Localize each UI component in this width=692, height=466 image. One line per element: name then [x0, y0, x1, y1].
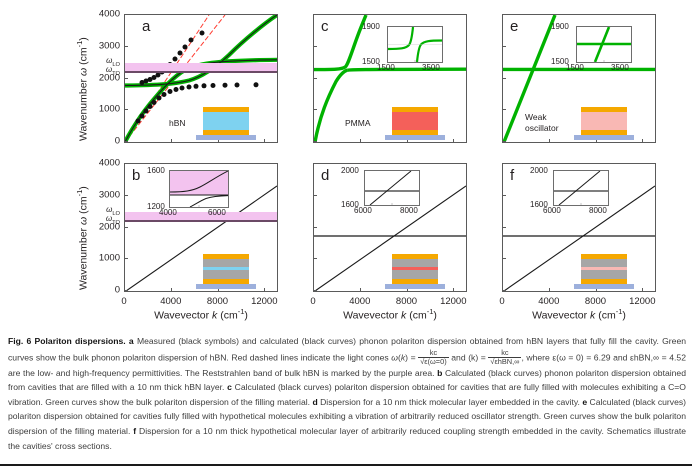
inset-e-ymax: 1900: [551, 22, 569, 31]
schematic-weak-thin-layer: [581, 267, 627, 270]
xtick-label-12000: 12000: [251, 296, 277, 307]
xtick-label-8000: 8000: [207, 296, 228, 307]
schematic-substrate: [574, 284, 634, 289]
caption-and: and: [611, 352, 631, 362]
omega-to-label-b: ωTO: [106, 214, 120, 226]
xtick-mark: [313, 139, 314, 143]
panel-letter-c: c: [321, 18, 329, 35]
caption-omega-eq: ω(k) =: [391, 352, 418, 362]
cavity-schematic-e: [581, 107, 627, 140]
xtick-mark: [360, 139, 361, 143]
schematic-spacer-lower: [581, 270, 627, 279]
figure-container: hBN a 4000 3000 2000 1000 0 ωLO ωTO Wave…: [0, 0, 692, 466]
schematic-substrate: [385, 135, 445, 140]
ytick-label-1000: 1000: [99, 104, 120, 115]
caption-where: where: [526, 352, 552, 362]
ytick-mark: [313, 195, 317, 196]
caption-permittivities: are the low- and high-frequency permitti…: [8, 368, 435, 378]
schematic-bottom-mirror: [581, 279, 627, 284]
inset-d-ymax: 2000: [341, 166, 359, 175]
xtick-mark: [313, 288, 314, 292]
inset-b-ymax: 1600: [147, 166, 165, 175]
panel-letter-a: a: [142, 18, 150, 35]
schematic-top-mirror: [203, 107, 249, 112]
xtick-label-8000: 8000: [585, 296, 606, 307]
xtick-mark: [502, 139, 503, 143]
light-cone-fraction-2: kc√εhBN,∞: [488, 349, 521, 366]
panel-letter-b: b: [132, 167, 140, 184]
ytick-mark: [313, 258, 317, 259]
schematic-molecular-thin-layer: [392, 267, 438, 270]
cavity-schematic-c: [392, 107, 438, 140]
inset-e-xmax: 3500: [611, 63, 629, 72]
inset-d-plot: [365, 171, 419, 205]
caption-ref-a: a: [129, 336, 134, 346]
inset-e-xmin: 1500: [566, 63, 584, 72]
figure-caption: Fig. 6 Polariton dispersions. a Measured…: [8, 334, 686, 453]
xtick-mark: [453, 139, 454, 143]
schematic-substrate: [196, 284, 256, 289]
x-axis-label-f: Wavevector k (cm-1): [497, 307, 661, 322]
xtick-label-12000: 12000: [629, 296, 655, 307]
inset-c-ymax: 1900: [362, 22, 380, 31]
ytick-label-3000: 3000: [99, 40, 120, 51]
xtick-label-0: 0: [499, 296, 504, 307]
schematic-top-mirror: [581, 254, 627, 259]
panel-f-axes: 2000 1600 6000 8000: [502, 163, 656, 292]
xtick-label-0: 0: [121, 296, 126, 307]
caption-fig-id: Fig. 6: [8, 336, 31, 346]
x-axis-label-b: Wavevector k (cm-1): [119, 307, 283, 322]
xtick-label-0: 0: [310, 296, 315, 307]
caption-ref-e: e: [582, 397, 587, 407]
xtick-mark: [549, 139, 550, 143]
caption-eps-inf: εhBN,∞ = 4.52: [630, 352, 686, 362]
schematic-hbn-thin-layer: [203, 267, 249, 270]
ytick-mark: [502, 14, 506, 15]
ytick-mark: [502, 227, 506, 228]
x-axis-label-d: Wavevector k (cm-1): [308, 307, 472, 322]
panel-letter-f: f: [510, 167, 514, 184]
panel-c: 1900 1500 1500 3500 PMMA c: [313, 14, 467, 143]
y-axis-label-top: Wavenumber ω (cm-1): [75, 37, 90, 141]
schematic-bottom-mirror: [392, 279, 438, 284]
ytick-mark: [124, 195, 128, 196]
caption-ref-f: f: [133, 426, 136, 436]
ytick-mark: [124, 258, 128, 259]
ytick-mark: [124, 78, 128, 79]
xtick-label-12000: 12000: [440, 296, 466, 307]
ytick-mark: [502, 195, 506, 196]
ytick-mark: [502, 109, 506, 110]
xtick-label-4000: 4000: [160, 296, 181, 307]
reststrahlen-band-a: [125, 63, 277, 71]
ytick-mark: [313, 46, 317, 47]
xtick-label-4000: 4000: [349, 296, 370, 307]
schematic-pmma-layer: [392, 112, 438, 130]
xtick-mark: [549, 288, 550, 292]
panel-e-axes: 1900 1500 1500 3500 Weak oscillator: [502, 14, 656, 143]
schematic-spacer-lower: [203, 270, 249, 279]
panel-c-axes: 1900 1500 1500 3500 PMMA: [313, 14, 467, 143]
ytick-mark: [124, 163, 128, 164]
inset-c: [387, 26, 443, 63]
schematic-hbn-layer: [203, 112, 249, 130]
light-cone-fraction-1: kc√ε(ω=0): [418, 349, 448, 366]
schematic-substrate: [574, 135, 634, 140]
xtick-label-4000: 4000: [538, 296, 559, 307]
panel-d-axes: 2000 1600 6000 8000: [313, 163, 467, 292]
schematic-top-mirror: [581, 107, 627, 112]
ytick-mark: [124, 227, 128, 228]
inset-c-xmax: 3500: [422, 63, 440, 72]
xtick-mark: [360, 288, 361, 292]
inset-b-xmin: 4000: [159, 208, 177, 217]
ytick-label-0: 0: [115, 285, 120, 296]
y-axis-label-bottom: Wavenumber ω (cm-1): [75, 186, 90, 290]
inset-f-xmax: 8000: [589, 206, 607, 215]
inset-e-plot: [577, 27, 631, 62]
reststrahlen-band-b: [125, 212, 277, 220]
schematic-label-e: Weak oscillator: [525, 112, 559, 134]
ytick-mark: [313, 109, 317, 110]
caption-eps-zero: ε(ω = 0) = 6.29: [552, 352, 610, 362]
schematic-top-mirror: [203, 254, 249, 259]
ytick-mark: [124, 109, 128, 110]
inset-d-xmax: 8000: [400, 206, 418, 215]
inset-f: [553, 170, 609, 206]
schematic-bottom-mirror: [203, 279, 249, 284]
xtick-label-8000: 8000: [396, 296, 417, 307]
cavity-schematic-f: [581, 254, 627, 289]
inset-f-plot: [554, 171, 608, 205]
panel-f: 2000 1600 6000 8000 f 0 4000 8000 12000: [502, 163, 656, 292]
ytick-mark: [313, 227, 317, 228]
panel-letter-e: e: [510, 18, 518, 35]
ytick-mark: [313, 78, 317, 79]
schematic-label-c: PMMA: [345, 118, 371, 129]
ytick-mark: [124, 46, 128, 47]
xtick-mark: [502, 288, 503, 292]
xtick-mark: [642, 139, 643, 143]
inset-d-xmin: 6000: [354, 206, 372, 215]
caption-f-text: Dispersion for a 10 nm thick hypothetica…: [139, 426, 604, 436]
band-lower-edge-b: [125, 220, 277, 222]
caption-ref-b: b: [437, 368, 442, 378]
caption-ref-d: d: [312, 397, 317, 407]
ytick-mark: [502, 163, 506, 164]
ytick-label-4000: 4000: [99, 158, 120, 169]
ytick-label-4000: 4000: [99, 9, 120, 20]
schematic-bottom-mirror: [392, 130, 438, 135]
ytick-mark: [124, 14, 128, 15]
inset-b: [169, 170, 229, 208]
schematic-spacer-upper: [392, 259, 438, 267]
ytick-label-3000: 3000: [99, 189, 120, 200]
xtick-mark: [171, 139, 172, 143]
ytick-mark: [313, 14, 317, 15]
panel-b-axes: 1600 1200 4000 6000: [124, 163, 278, 292]
caption-title: Polariton dispersions.: [35, 336, 126, 346]
inset-b-xmax: 6000: [208, 208, 226, 217]
schematic-spacer-upper: [581, 259, 627, 267]
xtick-mark: [124, 139, 125, 143]
caption-d-text: Dispersion for a 10 nm thick molecular l…: [320, 397, 580, 407]
band-lower-edge-a: [125, 71, 277, 73]
ytick-mark: [502, 258, 506, 259]
caption-ref-c: c: [227, 382, 232, 392]
inset-f-ymax: 2000: [530, 166, 548, 175]
panel-letter-d: d: [321, 167, 329, 184]
panel-e: 1900 1500 1500 3500 Weak oscillator e: [502, 14, 656, 143]
inset-c-xmin: 1500: [377, 63, 395, 72]
omega-to-label-a: ωTO: [106, 65, 120, 77]
xtick-mark: [264, 139, 265, 143]
xtick-mark: [171, 288, 172, 292]
schematic-spacer-upper: [203, 259, 249, 267]
xtick-mark: [124, 288, 125, 292]
panel-a: hBN a 4000 3000 2000 1000 0 ωLO ωTO: [124, 14, 278, 143]
schematic-top-mirror: [392, 107, 438, 112]
inset-f-xmin: 6000: [543, 206, 561, 215]
inset-b-plot: [170, 171, 228, 207]
cavity-schematic-a: [203, 107, 249, 140]
inset-c-plot: [388, 27, 442, 62]
xtick-mark: [453, 288, 454, 292]
schematic-bottom-mirror: [581, 130, 627, 135]
xtick-mark: [264, 288, 265, 292]
schematic-substrate: [385, 284, 445, 289]
ytick-mark: [502, 46, 506, 47]
ytick-label-0: 0: [115, 136, 120, 147]
schematic-weak-oscillator-layer: [581, 112, 627, 130]
inset-d: [364, 170, 420, 206]
panel-b: 1600 1200 4000 6000 b 4000 3000 2000 100…: [124, 163, 278, 292]
caption-and-k: and (k) =: [449, 352, 489, 362]
schematic-label-a: hBN: [169, 118, 186, 129]
panel-d: 2000 1600 6000 8000 d 0 4000 8000 12000: [313, 163, 467, 292]
schematic-top-mirror: [392, 254, 438, 259]
schematic-bottom-mirror: [203, 130, 249, 135]
cavity-schematic-d: [392, 254, 438, 289]
schematic-substrate: [196, 135, 256, 140]
xtick-mark: [642, 288, 643, 292]
cavity-schematic-b: [203, 254, 249, 289]
inset-e: [576, 26, 632, 63]
schematic-spacer-lower: [392, 270, 438, 279]
ytick-mark: [502, 78, 506, 79]
ytick-label-1000: 1000: [99, 253, 120, 264]
ytick-mark: [313, 163, 317, 164]
